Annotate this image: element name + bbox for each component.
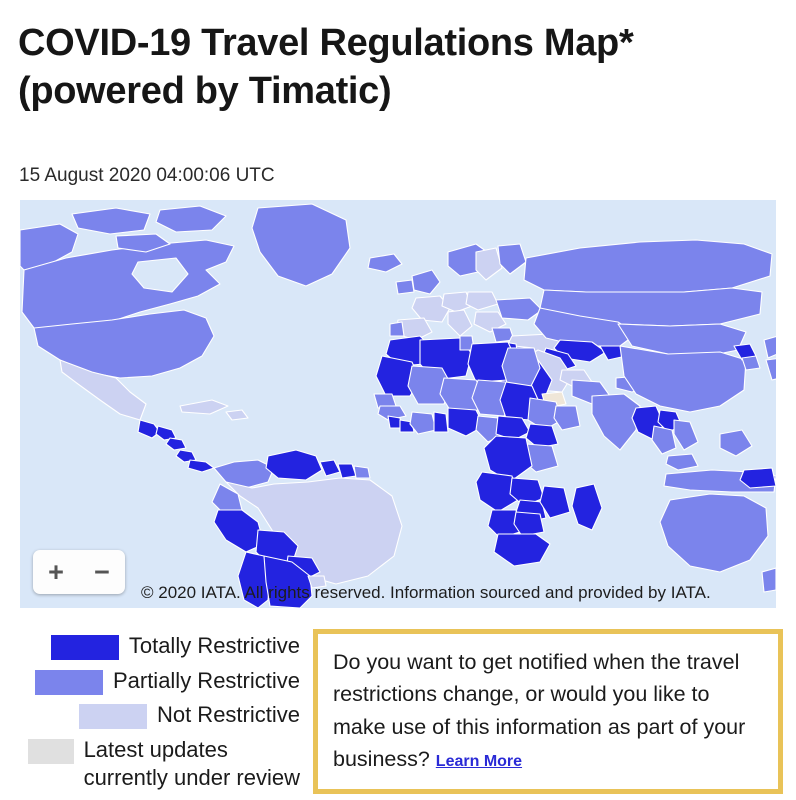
map-legend: Totally Restrictive Partially Restrictiv… — [0, 632, 300, 799]
legend-swatch-not-restrictive — [79, 704, 147, 729]
legend-label: Latest updates currently under review — [84, 736, 300, 793]
legend-item: Not Restrictive — [0, 701, 300, 730]
legend-swatch-partially-restrictive — [35, 670, 103, 695]
map-attribution: © 2020 IATA. All rights reserved. Inform… — [141, 583, 711, 603]
map-zoom-control[interactable]: + − — [33, 550, 125, 594]
region-new-zealand — [762, 568, 776, 592]
legend-label: Totally Restrictive — [129, 632, 300, 661]
legend-swatch-under-review — [28, 739, 74, 764]
region-ghana — [434, 412, 448, 432]
world-map[interactable] — [20, 200, 776, 608]
zoom-out-button[interactable]: − — [79, 550, 125, 594]
legend-label: Not Restrictive — [157, 701, 300, 730]
legend-item: Partially Restrictive — [0, 667, 300, 696]
region-papua-new-guinea — [740, 468, 776, 488]
legend-swatch-totally-restrictive — [51, 635, 119, 660]
world-map-svg — [20, 200, 776, 608]
notification-text: Do you want to get notified when the tra… — [333, 650, 745, 771]
page-title: COVID-19 Travel Regulations Map* (powere… — [18, 20, 786, 115]
region-french-guiana — [354, 466, 370, 478]
region-portugal — [390, 322, 404, 336]
legend-item: Latest updates currently under review — [0, 736, 300, 793]
notification-box: Do you want to get notified when the tra… — [313, 629, 783, 794]
timestamp: 15 August 2020 04:00:06 UTC — [19, 166, 275, 185]
region-ireland — [396, 280, 414, 294]
legend-label: Partially Restrictive — [113, 667, 300, 696]
legend-item: Totally Restrictive — [0, 632, 300, 661]
page-root: COVID-19 Travel Regulations Map* (powere… — [0, 0, 796, 800]
zoom-in-button[interactable]: + — [33, 550, 79, 594]
learn-more-link[interactable]: Learn More — [436, 753, 522, 770]
